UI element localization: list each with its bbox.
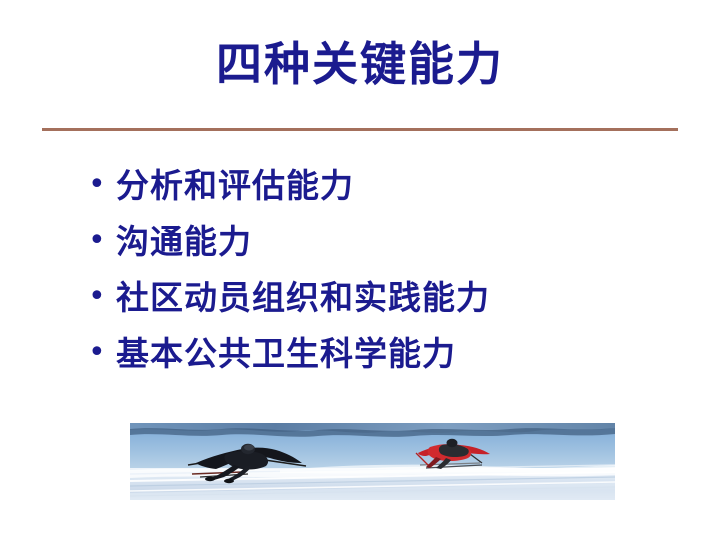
list-item: • 基本公共卫生科学能力 xyxy=(88,331,688,387)
bullet-item-label: 基本公共卫生科学能力 xyxy=(116,331,688,377)
page-title: 四种关键能力 xyxy=(0,36,720,92)
bullet-list: • 分析和评估能力 • 沟通能力 • 社区动员组织和实践能力 • 基本公共卫生科… xyxy=(88,163,688,387)
ski-photo-graphic xyxy=(130,423,615,500)
bullet-dot-icon: • xyxy=(88,331,116,375)
cross-country-skiers-photo xyxy=(130,423,615,500)
bullet-item-label: 社区动员组织和实践能力 xyxy=(116,275,688,321)
title-divider xyxy=(42,128,678,131)
bullet-item-label: 分析和评估能力 xyxy=(116,163,688,209)
list-item: • 社区动员组织和实践能力 xyxy=(88,275,688,331)
list-item: • 分析和评估能力 xyxy=(88,163,688,219)
bullet-item-label: 沟通能力 xyxy=(116,219,688,265)
presentation-slide: 四种关键能力 • 分析和评估能力 • 沟通能力 • 社区动员组织和实践能力 • … xyxy=(0,0,720,540)
bullet-dot-icon: • xyxy=(88,219,116,263)
bullet-dot-icon: • xyxy=(88,275,116,319)
bullet-dot-icon: • xyxy=(88,163,116,207)
list-item: • 沟通能力 xyxy=(88,219,688,275)
